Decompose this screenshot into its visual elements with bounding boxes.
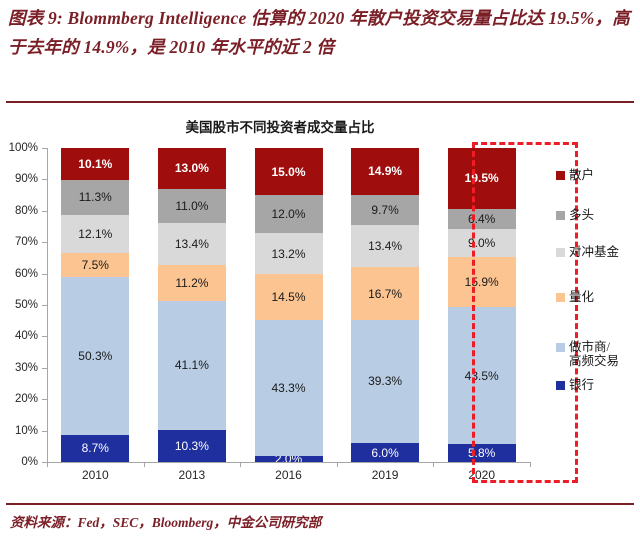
- legend-item-retail[interactable]: 散户: [556, 168, 594, 182]
- highlight-box-2020: [472, 142, 578, 483]
- bar-segment: 13.4%: [158, 223, 226, 265]
- source-note: 资料来源：Fed，SEC，Bloomberg，中金公司研究部: [10, 511, 321, 531]
- bar-2013: 10.3%41.1%11.2%13.4%11.0%13.0%: [158, 148, 226, 462]
- legend-item-hedge-fund[interactable]: 对冲基金: [556, 245, 619, 259]
- segment-value-label: 14.5%: [271, 291, 305, 303]
- legend-item-market-maker[interactable]: 做市商/ 高频交易: [556, 340, 619, 368]
- segment-value-label: 11.2%: [175, 277, 208, 289]
- segment-value-label: 11.3%: [79, 191, 112, 203]
- header-divider: [6, 101, 634, 103]
- legend-label: 量化: [569, 290, 594, 304]
- segment-value-label: 9.7%: [371, 204, 398, 216]
- segment-value-label: 41.1%: [175, 359, 209, 371]
- bar-segment: 2.0%: [255, 456, 323, 462]
- bar-segment: 43.3%: [255, 320, 323, 456]
- y-tick-label: 40%: [0, 330, 38, 342]
- segment-value-label: 12.0%: [271, 208, 305, 220]
- bar-segment: 10.3%: [158, 430, 226, 462]
- bar-2019: 6.0%39.3%16.7%13.4%9.7%14.9%: [351, 148, 419, 462]
- segment-value-label: 13.4%: [175, 238, 209, 250]
- segment-value-label: 13.4%: [368, 240, 402, 252]
- x-tick-mark: [47, 462, 48, 467]
- bar-segment: 16.7%: [351, 267, 419, 319]
- segment-value-label: 15.0%: [271, 166, 305, 178]
- legend-item-long[interactable]: 多头: [556, 208, 594, 222]
- bar-segment: 10.1%: [61, 148, 129, 180]
- segment-value-label: 14.9%: [368, 165, 402, 177]
- y-tick-label: 50%: [0, 299, 38, 311]
- legend-item-quant[interactable]: 量化: [556, 290, 594, 304]
- bar-segment: 8.7%: [61, 435, 129, 462]
- figure-caption: 图表 9: Blommberg Intelligence 估算的 2020 年散…: [8, 4, 632, 62]
- chart-title: 美国股市不同投资者成交量占比: [0, 116, 560, 136]
- bar-segment: 6.0%: [351, 443, 419, 462]
- legend-item-bank[interactable]: 银行: [556, 378, 594, 392]
- segment-value-label: 11.0%: [175, 200, 208, 212]
- segment-value-label: 12.1%: [78, 228, 112, 240]
- legend-swatch-icon: [556, 381, 565, 390]
- legend-label: 对冲基金: [569, 245, 619, 259]
- bar-segment: 13.2%: [255, 233, 323, 274]
- x-tick-mark: [240, 462, 241, 467]
- x-axis-line: [47, 462, 531, 463]
- x-tick-label-2013: 2013: [144, 468, 240, 482]
- legend-swatch-icon: [556, 343, 565, 352]
- legend-swatch-icon: [556, 171, 565, 180]
- y-tick-label: 70%: [0, 236, 38, 248]
- y-tick-label: 60%: [0, 268, 38, 280]
- segment-value-label: 16.7%: [368, 288, 402, 300]
- y-tick-label: 30%: [0, 362, 38, 374]
- segment-value-label: 13.0%: [175, 162, 209, 174]
- bar-segment: 13.4%: [351, 225, 419, 267]
- segment-value-label: 43.3%: [271, 382, 305, 394]
- bar-segment: 50.3%: [61, 277, 129, 435]
- y-tick-label: 0%: [0, 456, 38, 468]
- bar-segment: 11.3%: [61, 180, 129, 215]
- segment-value-label: 8.7%: [82, 442, 109, 454]
- y-tick-label: 10%: [0, 425, 38, 437]
- bar-segment: 12.0%: [255, 195, 323, 233]
- y-tick-label: 100%: [0, 142, 38, 154]
- segment-value-label: 13.2%: [271, 248, 305, 260]
- legend-swatch-icon: [556, 248, 565, 257]
- x-tick-mark: [433, 462, 434, 467]
- y-tick-label: 80%: [0, 205, 38, 217]
- bar-2010: 8.7%50.3%7.5%12.1%11.3%10.1%: [61, 148, 129, 462]
- footer-divider: [6, 503, 634, 505]
- x-tick-label-2019: 2019: [337, 468, 433, 482]
- bar-segment: 41.1%: [158, 301, 226, 430]
- figure-page: 图表 9: Blommberg Intelligence 估算的 2020 年散…: [0, 0, 640, 543]
- x-tick-label-2016: 2016: [241, 468, 337, 482]
- legend-swatch-icon: [556, 211, 565, 220]
- segment-value-label: 10.3%: [175, 440, 209, 452]
- bar-segment: 11.2%: [158, 265, 226, 300]
- y-tick-label: 20%: [0, 393, 38, 405]
- segment-value-label: 7.5%: [82, 259, 109, 271]
- legend-label: 银行: [569, 378, 594, 392]
- bar-segment: 9.7%: [351, 195, 419, 225]
- bar-segment: 14.9%: [351, 148, 419, 195]
- bar-2016: 2.0%43.3%14.5%13.2%12.0%15.0%: [255, 148, 323, 462]
- bar-segment: 13.0%: [158, 148, 226, 189]
- bar-segment: 15.0%: [255, 148, 323, 195]
- bar-segment: 7.5%: [61, 253, 129, 277]
- legend-label: 多头: [569, 208, 594, 222]
- x-tick-mark: [144, 462, 145, 467]
- x-tick-label-2010: 2010: [47, 468, 143, 482]
- legend-label: 散户: [569, 168, 594, 182]
- segment-value-label: 39.3%: [368, 375, 402, 387]
- segment-value-label: 2.0%: [275, 456, 302, 462]
- plot-area: 8.7%50.3%7.5%12.1%11.3%10.1%10.3%41.1%11…: [47, 148, 530, 462]
- bar-segment: 12.1%: [61, 215, 129, 253]
- bar-segment: 39.3%: [351, 320, 419, 443]
- y-tick-label: 90%: [0, 173, 38, 185]
- bar-segment: 11.0%: [158, 189, 226, 224]
- bar-segment: 14.5%: [255, 274, 323, 320]
- segment-value-label: 6.0%: [371, 447, 398, 459]
- legend-label: 做市商/ 高频交易: [569, 340, 619, 368]
- segment-value-label: 50.3%: [78, 350, 112, 362]
- x-tick-mark: [337, 462, 338, 467]
- legend-swatch-icon: [556, 293, 565, 302]
- segment-value-label: 10.1%: [78, 158, 112, 170]
